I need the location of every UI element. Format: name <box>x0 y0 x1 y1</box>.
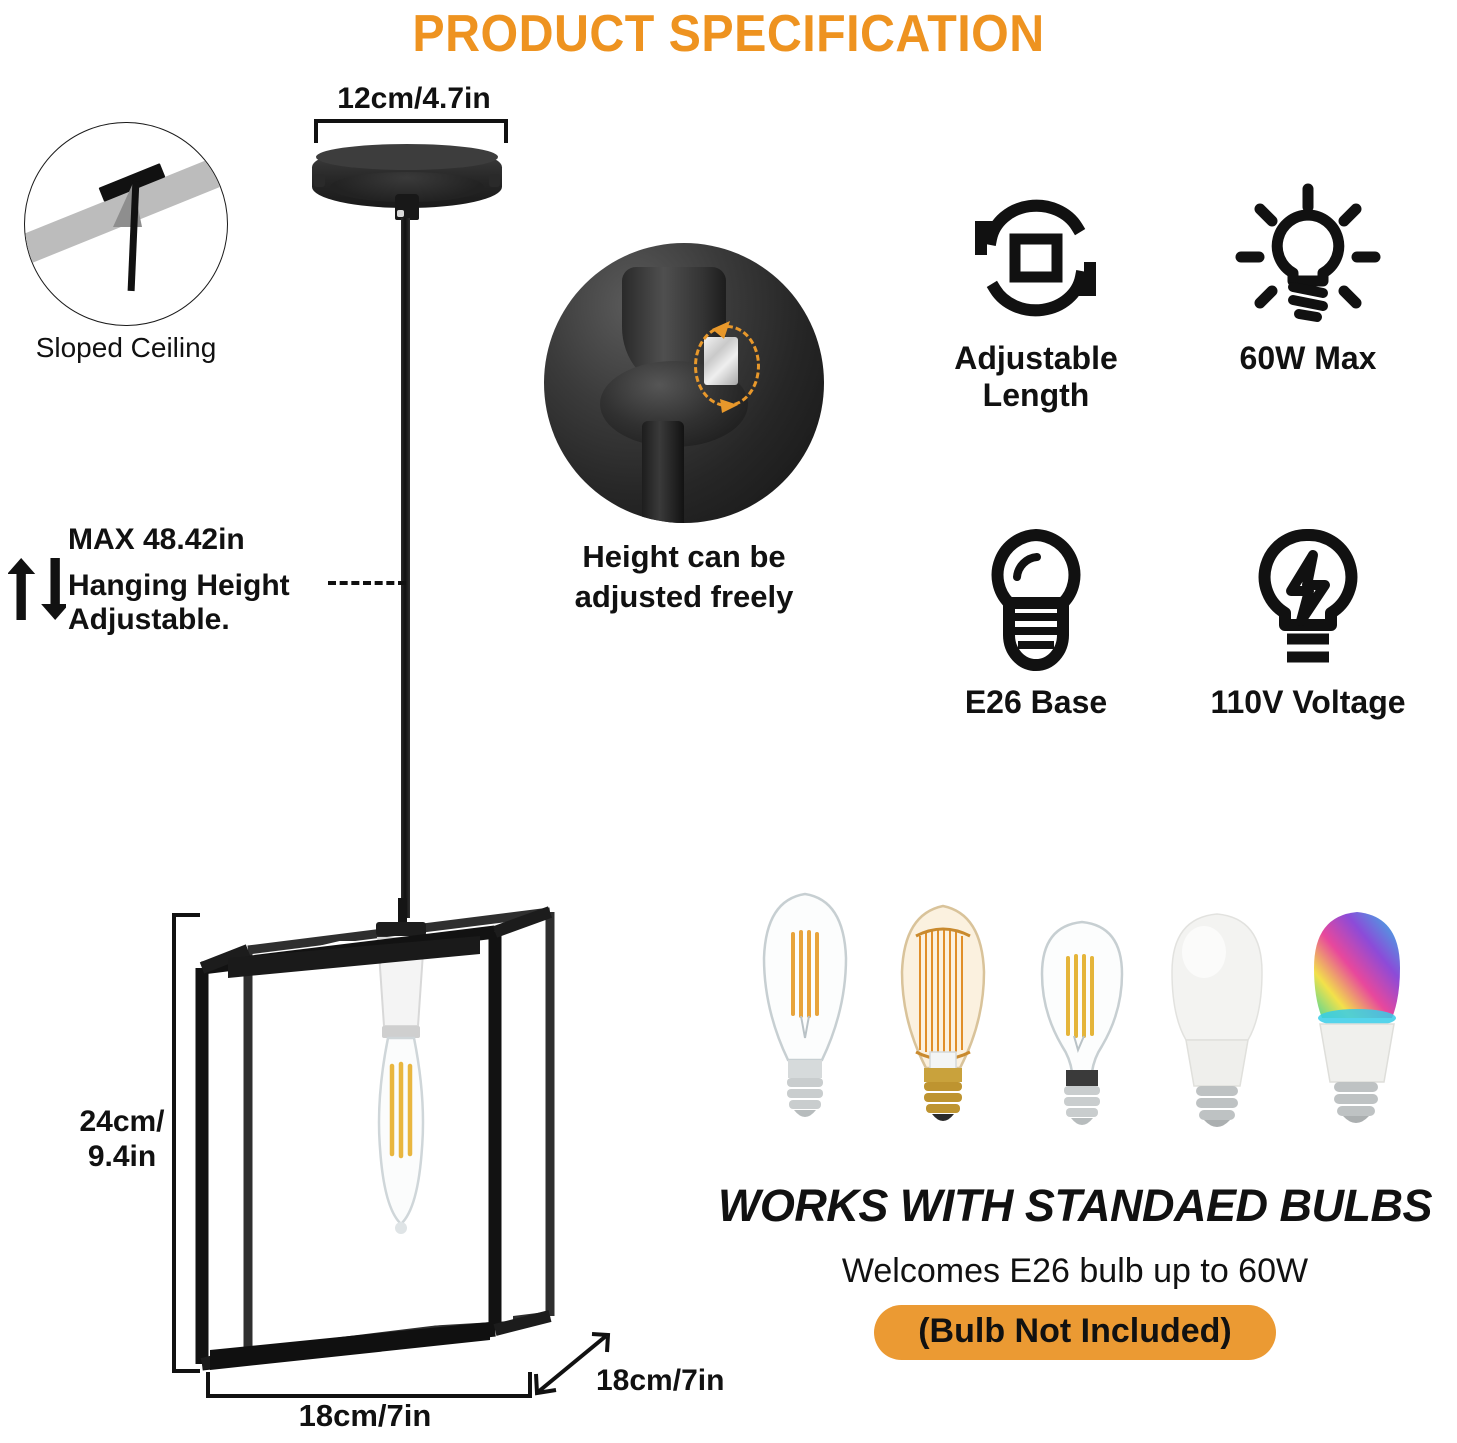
height-adjust-label-line1: Height can be <box>536 537 832 577</box>
bulb-not-included-badge: (Bulb Not Included) <box>874 1305 1276 1360</box>
ceiling-canopy-plate <box>312 146 502 220</box>
fixture-width-label: 18cm/7in <box>206 1398 524 1434</box>
lightbulb-lightning-bolt-icon <box>1172 512 1444 688</box>
fixture-height-bracket <box>172 913 200 1373</box>
fixture-height-line2: 9.4in <box>70 1139 174 1174</box>
canopy-screw-left <box>314 174 325 187</box>
hanging-cord <box>401 218 410 918</box>
sloped-ceiling-label: Sloped Ceiling <box>18 332 234 364</box>
clear-a19-led-filament-bulb <box>1022 916 1142 1143</box>
hanging-height-text-block: MAX 48.42in Hanging Height Adjustable. <box>68 523 338 637</box>
compatible-bulbs-row <box>740 893 1440 1143</box>
canopy-top-face <box>316 144 498 170</box>
feature-110v-voltage: 110V Voltage <box>1172 512 1444 721</box>
feature-60w-max: 60W Max <box>1172 168 1444 414</box>
page-title: PRODUCT SPECIFICATION <box>51 4 1406 64</box>
works-with-bulbs-subline: Welcomes E26 bulb up to 60W <box>690 1252 1457 1291</box>
feature-e26-base: E26 Base <box>900 512 1172 721</box>
sloped-ceiling-badge: Sloped Ceiling <box>18 122 234 364</box>
sloped-ceiling-icon <box>24 122 228 326</box>
feature-icon-grid: Adjustable Length <box>900 168 1445 721</box>
feature-label: E26 Base <box>900 684 1172 721</box>
hanging-height-line3: Adjustable. <box>68 603 338 637</box>
canopy-dimension-bracket <box>314 119 508 143</box>
amber-st64-vintage-filament-bulb <box>878 900 1008 1143</box>
rotate-arrows-square-icon <box>900 168 1172 344</box>
feature-adjustable-length: Adjustable Length <box>900 168 1172 414</box>
height-adjust-detail: Height can be adjusted freely <box>536 243 832 616</box>
rgb-smart-color-bulb <box>1292 906 1422 1143</box>
clear-st64-led-filament-bulb <box>740 888 870 1143</box>
lightbulb-screw-base-icon <box>900 512 1172 688</box>
fixture-depth-label: 18cm/7in <box>596 1364 724 1398</box>
pendant-light-fixture <box>180 898 600 1378</box>
fixture-height-label: 24cm/ 9.4in <box>70 1104 174 1175</box>
cord-grip-rotate-detail-icon <box>544 243 824 523</box>
up-down-arrows-icon <box>8 558 66 620</box>
dashed-leader-line <box>328 581 406 585</box>
feature-label: 110V Voltage <box>1172 684 1444 721</box>
fixture-width-bracket <box>206 1372 532 1398</box>
product-specification-page: PRODUCT SPECIFICATION Sloped Ceiling 12c… <box>0 0 1457 1443</box>
feature-row-bottom: E26 Base 110V Voltage <box>900 512 1445 721</box>
bulb-not-included-wrap: (Bulb Not Included) <box>690 1305 1457 1360</box>
lightbulb-rays-icon <box>1172 168 1444 344</box>
detail-cord <box>642 421 684 523</box>
fixture-stem <box>398 898 407 924</box>
hanging-height-line2: Hanging Height <box>68 569 338 603</box>
rotate-arrow-heads <box>690 311 760 417</box>
frosted-white-led-a19-bulb <box>1152 908 1282 1143</box>
height-adjust-label-line2: adjusted freely <box>536 577 832 617</box>
fixture-height-line1: 24cm/ <box>70 1104 174 1139</box>
canopy-screw-right <box>489 174 500 187</box>
feature-row-top: Adjustable Length <box>900 168 1445 414</box>
canopy-dimension-label: 12cm/4.7in <box>314 82 514 116</box>
works-with-bulbs-headline: WORKS WITH STANDAED BULBS <box>690 1180 1457 1232</box>
canopy-grip-screw <box>397 210 404 217</box>
feature-label: 60W Max <box>1172 340 1444 377</box>
max-height-value: MAX 48.42in <box>68 523 338 557</box>
height-adjust-label: Height can be adjusted freely <box>536 537 832 616</box>
feature-label: Adjustable Length <box>900 340 1172 414</box>
